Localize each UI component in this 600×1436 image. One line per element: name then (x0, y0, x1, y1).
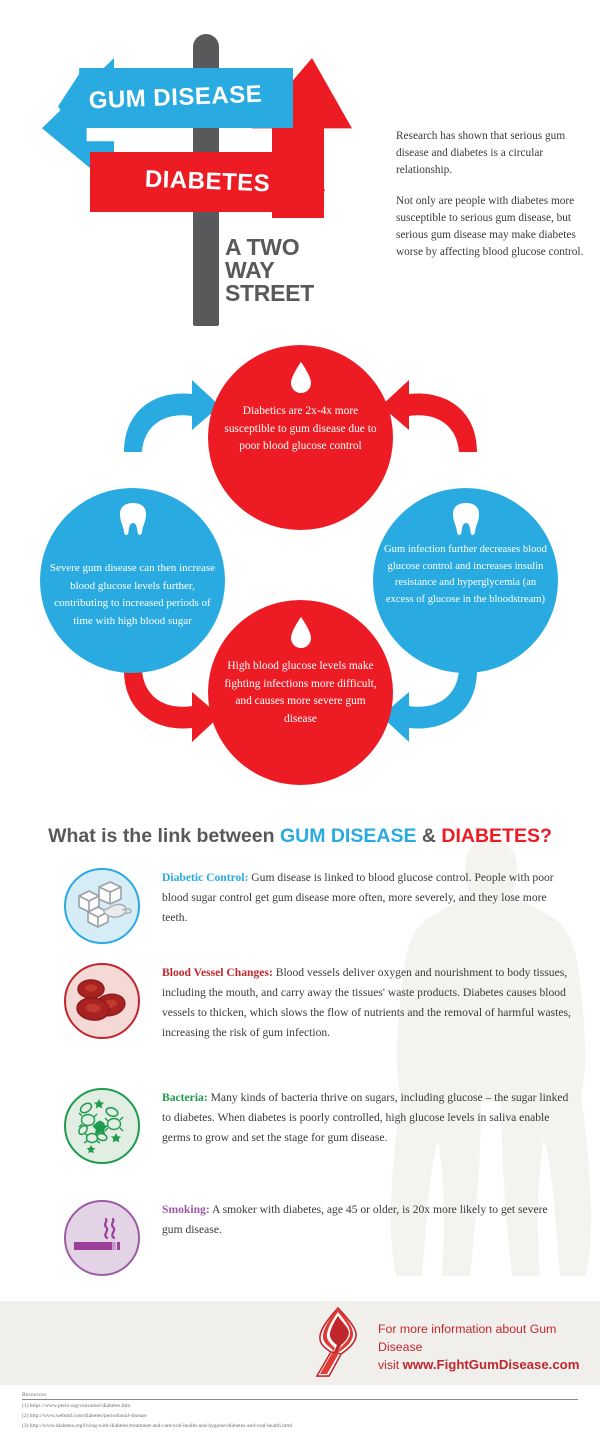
link-heading-part1: What is the link between (48, 825, 280, 847)
link-heading-diabetes: DIABETES (441, 825, 540, 847)
blood-drop-icon (290, 616, 312, 650)
infographic-page: GUM DISEASE DIABETES A TWO WAY STREET Re… (0, 0, 600, 1436)
list-item-text: Diabetic Control: Gum disease is linked … (162, 868, 564, 928)
cycle-bubble-top-text: Diabetics are 2x-4x more susceptible to … (208, 403, 393, 456)
intro-text: Research has shown that serious gum dise… (396, 128, 586, 275)
two-way-line-2: WAY (225, 259, 355, 282)
tooth-icon (451, 502, 481, 536)
cycle-bubble-bottom-text: High blood glucose levels make fighting … (208, 658, 393, 728)
footer-info-line2: visit www.FightGumDisease.com (378, 1356, 598, 1374)
source-link[interactable]: (1) https://www.perio.org/consumer/diabe… (22, 1402, 578, 1411)
sign-diabetes-label: DIABETES (89, 148, 326, 217)
signpost-graphic: GUM DISEASE DIABETES A TWO WAY STREET (20, 14, 370, 324)
tooth-icon (118, 502, 148, 536)
list-item-label: Diabetic Control: (162, 871, 248, 884)
list-item-text: Smoking: A smoker with diabetes, age 45 … (162, 1200, 564, 1240)
red-blood-cells-icon (64, 963, 140, 1039)
cycle-diagram: Diabetics are 2x-4x more susceptible to … (0, 330, 600, 800)
cycle-bubble-bottom: High blood glucose levels make fighting … (208, 600, 393, 785)
list-item-text: Bacteria: Many kinds of bacteria thrive … (162, 1088, 569, 1148)
source-link[interactable]: (3) http://www.diabetes.org/living-with-… (22, 1422, 578, 1431)
intro-paragraph-2: Not only are people with diabetes more s… (396, 193, 586, 261)
list-item-label: Bacteria: (162, 1091, 208, 1104)
cycle-bubble-left-text: Severe gum disease can then increase blo… (40, 560, 225, 630)
list-item: Smoking: A smoker with diabetes, age 45 … (64, 1200, 564, 1276)
list-item-body: A smoker with diabetes, age 45 or older,… (162, 1203, 548, 1236)
link-heading-questionmark: ? (540, 825, 552, 847)
list-item-text: Blood Vessel Changes: Blood vessels deli… (162, 963, 574, 1043)
footer-info: For more information about Gum Disease v… (378, 1320, 598, 1374)
cycle-bubble-left: Severe gum disease can then increase blo… (40, 488, 225, 673)
two-way-line-3: STREET (225, 282, 355, 305)
intro-paragraph-1: Research has shown that serious gum dise… (396, 128, 586, 179)
header-section: GUM DISEASE DIABETES A TWO WAY STREET Re… (0, 0, 600, 330)
list-item-body: Many kinds of bacteria thrive on sugars,… (162, 1091, 568, 1144)
footer-url[interactable]: www.FightGumDisease.com (403, 1357, 580, 1372)
cycle-bubble-right-text: Gum infection further decreases blood gl… (373, 542, 558, 608)
sign-gum-disease: GUM DISEASE (58, 68, 293, 128)
blood-drop-icon (290, 361, 312, 395)
cycle-bubble-top: Diabetics are 2x-4x more susceptible to … (208, 345, 393, 530)
link-heading: What is the link between GUM DISEASE & D… (0, 825, 600, 848)
arrow-right-down-red (378, 378, 483, 456)
cigarette-icon (64, 1200, 140, 1276)
bacteria-icon (64, 1088, 140, 1164)
source-link[interactable]: (2) http://www.webmd.com/diabetes/period… (22, 1412, 578, 1421)
list-item: Blood Vessel Changes: Blood vessels deli… (64, 963, 574, 1043)
sources-block: Resources (1) https://www.perio.org/cons… (22, 1392, 578, 1430)
link-heading-amp: & (416, 825, 441, 847)
footer-visit-label: visit (378, 1358, 403, 1372)
link-heading-gum-disease: GUM DISEASE (280, 825, 417, 847)
arrow-right-up-blue (378, 666, 483, 744)
two-way-line-1: A TWO (225, 236, 355, 259)
sign-gum-disease-label: GUM DISEASE (57, 64, 294, 133)
footer-info-line1: For more information about Gum Disease (378, 1320, 598, 1356)
awareness-ribbon-icon (307, 1306, 369, 1380)
sugar-cubes-icon (64, 868, 140, 944)
sign-diabetes: DIABETES (90, 152, 325, 212)
sources-title: Resources (22, 1392, 578, 1400)
list-item: Diabetic Control: Gum disease is linked … (64, 868, 564, 944)
list-item: Bacteria: Many kinds of bacteria thrive … (64, 1088, 569, 1164)
cycle-bubble-right: Gum infection further decreases blood gl… (373, 488, 558, 673)
link-section: What is the link between GUM DISEASE & D… (0, 800, 600, 1300)
list-item-label: Blood Vessel Changes: (162, 966, 273, 979)
list-item-label: Smoking: (162, 1203, 210, 1216)
two-way-street-text: A TWO WAY STREET (225, 236, 355, 305)
